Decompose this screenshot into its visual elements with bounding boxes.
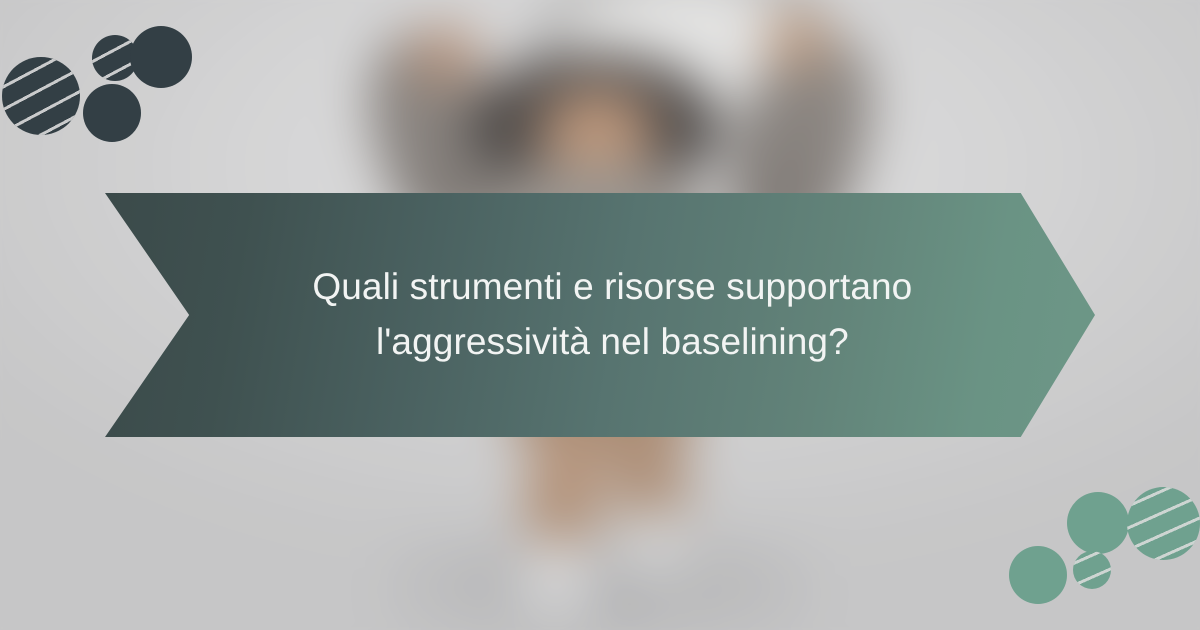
social-card: Quali strumenti e risorse supportano l'a… [0,0,1200,630]
headline-line-1: Quali strumenti e risorse supportano [246,260,979,315]
headline-text: Quali strumenti e risorse supportano l'a… [246,260,979,370]
deco-circle-medium-solid [83,84,141,142]
deco-circle-large-striped [2,57,80,135]
deco-circle-small-striped-green [1073,551,1111,589]
headline-banner: Quali strumenti e risorse supportano l'a… [105,193,1095,437]
deco-circle-medium-solid-2 [130,26,192,88]
headline-line-2: l'aggressività nel baselining? [246,315,979,370]
deco-circle-medium-solid-green [1067,492,1129,554]
deco-circle-large-striped-green [1127,487,1200,560]
deco-circle-medium-solid-green-2 [1009,546,1067,604]
